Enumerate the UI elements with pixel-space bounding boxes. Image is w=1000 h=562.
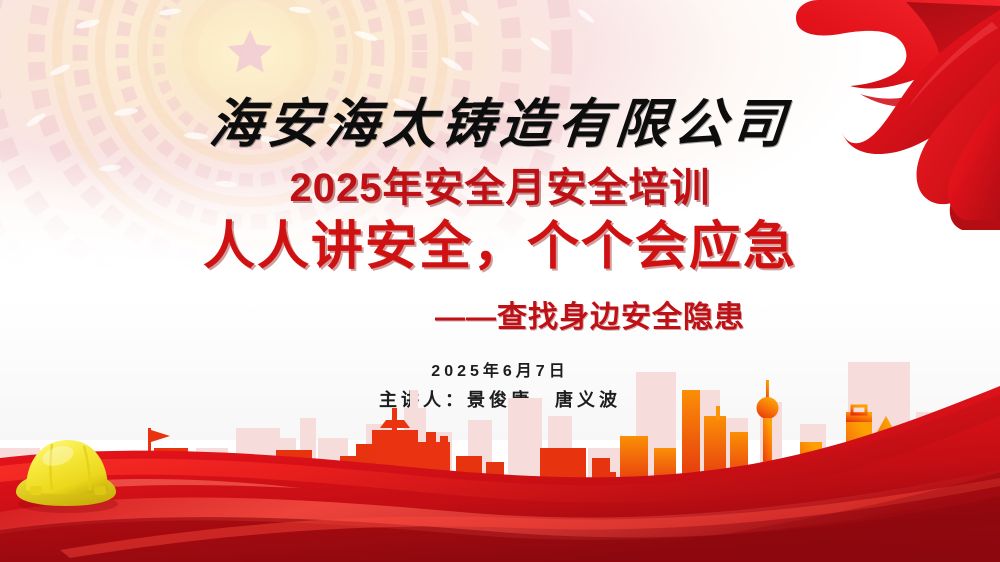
company-name: 海安海太铸造有限公司 (0, 82, 1000, 158)
subtitle-row: ——查找身边安全隐患 (0, 292, 1000, 336)
hardhat-icon (6, 428, 124, 518)
bottom-artwork (0, 362, 1000, 562)
presentation-slide: 海安海太铸造有限公司 2025年安全月安全培训 人人讲安全，个个会应急 ——查找… (0, 0, 1000, 562)
main-slogan: 人人讲安全，个个会应急 (0, 204, 1000, 279)
subtitle: ——查找身边安全隐患 (435, 292, 745, 336)
star-icon (228, 30, 273, 73)
